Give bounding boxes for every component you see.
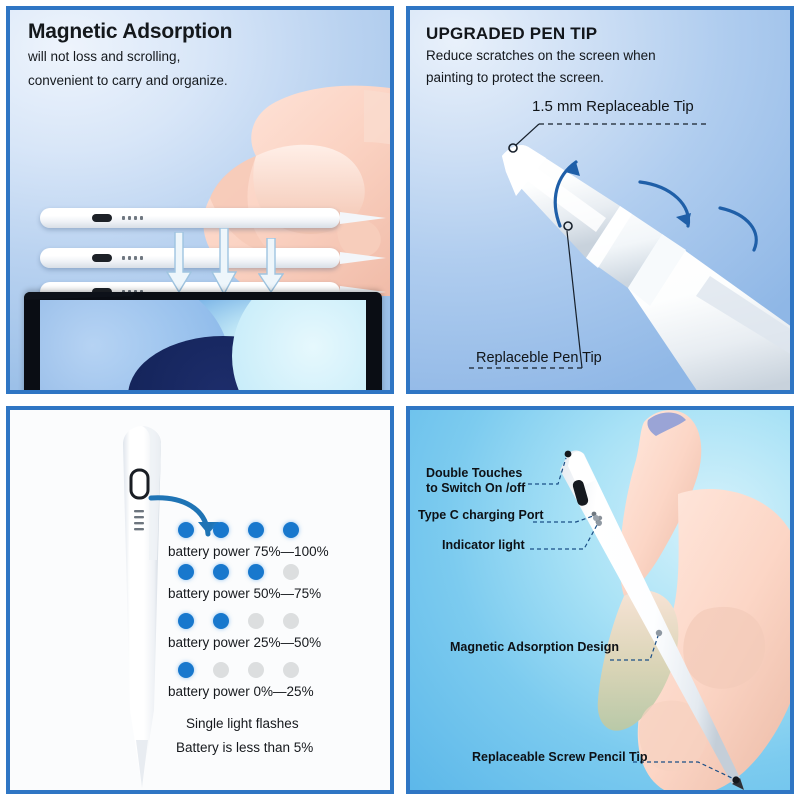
tablet-device <box>24 292 382 390</box>
battery-dot <box>248 662 264 678</box>
battery-dot <box>248 522 264 538</box>
tablet-screen <box>40 300 366 390</box>
battery-level-row: battery power 75%—100% <box>168 522 390 559</box>
panel-battery-frame: battery power 75%—100% battery power 50%… <box>6 406 394 794</box>
callout-replaceable-tip-size: 1.5 mm Replaceable Tip <box>532 98 694 115</box>
battery-dot <box>178 522 194 538</box>
panel-magnetic-subtitle-2: convenient to carry and organize. <box>28 73 228 88</box>
panel-pentip-title: UPGRADED PEN TIP <box>426 24 597 44</box>
battery-level-label: battery power 50%—75% <box>168 586 390 601</box>
battery-level-label: battery power 0%—25% <box>168 684 390 699</box>
panel-features-frame: Double Touches to Switch On /off Type C … <box>406 406 794 794</box>
battery-dot <box>178 662 194 678</box>
panel-magnetic-subtitle-1: will not loss and scrolling, <box>28 49 180 64</box>
stylus-pen-top <box>40 208 340 228</box>
battery-dot <box>178 613 194 629</box>
battery-dot <box>213 522 229 538</box>
battery-dot <box>248 613 264 629</box>
stylus-closeup-illustration <box>410 10 790 390</box>
down-arrow-icon-2 <box>211 228 237 296</box>
panel-magnetic-frame: Magnetic Adsorption will not loss and sc… <box>6 6 394 394</box>
battery-dots <box>168 522 390 538</box>
battery-level-row: battery power 25%—50% <box>168 613 390 650</box>
indicator-leds-icon <box>122 216 143 220</box>
panel-battery-indicator: battery power 75%—100% battery power 50%… <box>0 400 400 800</box>
panel-pentip-subtitle-2: painting to protect the screen. <box>426 70 604 85</box>
battery-dot <box>283 613 299 629</box>
callout-double-touch-line-2: to Switch On /off <box>426 481 525 495</box>
panel-magnetic-adsorption: Magnetic Adsorption will not loss and sc… <box>0 0 400 400</box>
panel-upgraded-pen-tip: UPGRADED PEN TIP Reduce scratches on the… <box>400 0 800 400</box>
panel-magnetic-title: Magnetic Adsorption <box>28 20 232 44</box>
callout-replaceable-screw-pencil-tip: Replaceable Screw Pencil Tip <box>472 750 648 765</box>
callout-double-touch-line-1: Double Touches <box>426 466 522 480</box>
indicator-leds-icon <box>122 256 143 260</box>
down-arrow-icon-3 <box>258 238 284 294</box>
battery-dot <box>248 564 264 580</box>
battery-level-row: battery power 0%—25% <box>168 662 390 699</box>
battery-note-line-1: Single light flashes <box>186 716 390 731</box>
battery-dot <box>213 564 229 580</box>
down-arrow-icon-1 <box>166 232 192 294</box>
callout-replaceble-pen-tip: Replaceble Pen Tip <box>476 350 602 366</box>
battery-level-label: battery power 75%—100% <box>168 544 390 559</box>
panel-pentip-subtitle-1: Reduce scratches on the screen when <box>426 48 656 63</box>
tablet-edge-accent <box>24 292 134 300</box>
panel-feature-callouts: Double Touches to Switch On /off Type C … <box>400 400 800 800</box>
panel-pentip-frame: UPGRADED PEN TIP Reduce scratches on the… <box>406 6 794 394</box>
battery-level-label: battery power 25%—50% <box>168 635 390 650</box>
battery-dot <box>283 522 299 538</box>
usb-c-port-icon <box>92 214 112 222</box>
pen-tip-shape <box>340 212 386 224</box>
battery-dot <box>213 613 229 629</box>
battery-dots <box>168 564 390 580</box>
battery-note-line-2: Battery is less than 5% <box>176 740 390 755</box>
callout-double-touch-power: Double Touches to Switch On /off <box>426 466 525 497</box>
callout-type-c-port: Type C charging Port <box>418 508 543 523</box>
pen-tip-shape <box>340 252 386 264</box>
battery-dot <box>178 564 194 580</box>
callout-magnetic-adsorption-design: Magnetic Adsorption Design <box>450 640 619 655</box>
battery-dots <box>168 662 390 678</box>
battery-dot <box>283 564 299 580</box>
battery-dot <box>283 662 299 678</box>
battery-dots <box>168 613 390 629</box>
battery-dot <box>213 662 229 678</box>
infographic-grid: Magnetic Adsorption will not loss and sc… <box>0 0 800 800</box>
callout-indicator-light: Indicator light <box>442 538 525 553</box>
battery-level-list: battery power 75%—100% battery power 50%… <box>168 522 390 704</box>
usb-c-port-icon <box>92 254 112 262</box>
battery-level-row: battery power 50%—75% <box>168 564 390 601</box>
